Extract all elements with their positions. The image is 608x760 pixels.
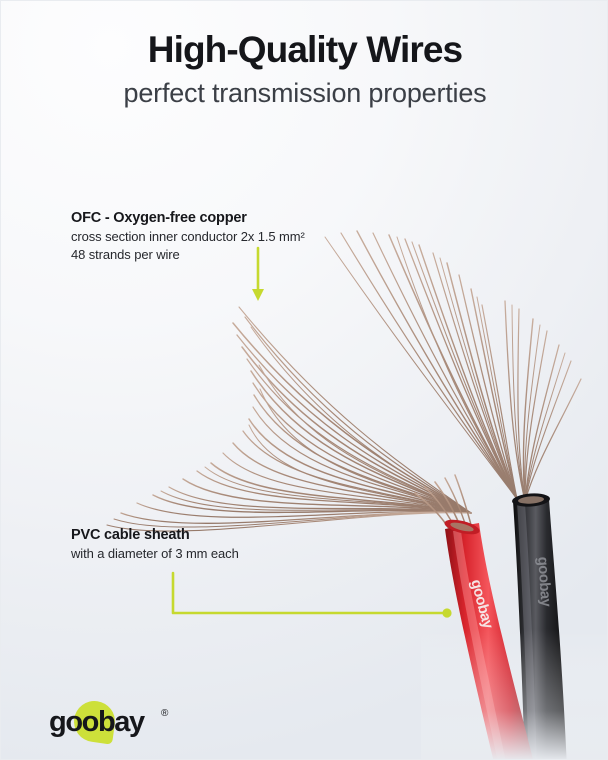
product-infographic: High-Quality Wires perfect transmission … — [0, 0, 608, 760]
cable-red-print: goobay — [467, 578, 497, 632]
goobay-logo: goobay ® — [49, 699, 199, 745]
copper-strand-fan-left — [107, 307, 471, 531]
page-subtitle: perfect transmission properties — [1, 75, 608, 111]
product-photo: goobay goobay — [1, 1, 608, 760]
registered-trademark-icon: ® — [161, 709, 168, 719]
header-block: High-Quality Wires perfect transmission … — [1, 27, 608, 111]
connector-pvc-elbow — [173, 573, 452, 618]
logo-wordmark: goobay — [49, 708, 144, 737]
callout-connectors — [1, 1, 608, 760]
depth-of-field-fade — [421, 629, 608, 760]
callout-ofc: OFC - Oxygen-free copper cross section i… — [71, 208, 305, 264]
callout-ofc-title: OFC - Oxygen-free copper — [71, 208, 305, 228]
copper-strand-fan-right — [505, 301, 581, 501]
callout-pvc-line-1: with a diameter of 3 mm each — [71, 545, 239, 563]
cable-red: goobay — [443, 517, 535, 760]
callout-pvc: PVC cable sheath with a diameter of 3 mm… — [71, 525, 239, 563]
connector-pvc-end-dot — [442, 608, 451, 617]
cable-black-print: goobay — [534, 556, 555, 608]
page-title: High-Quality Wires — [1, 27, 608, 73]
callout-pvc-title: PVC cable sheath — [71, 525, 239, 545]
copper-strands-red-entry — [415, 475, 479, 557]
callout-ofc-line-2: 48 strands per wire — [71, 246, 305, 264]
cable-black: goobay — [512, 492, 567, 760]
copper-strand-fan-upper — [325, 231, 517, 499]
callout-ofc-line-1: cross section inner conductor 2x 1.5 mm² — [71, 228, 305, 246]
